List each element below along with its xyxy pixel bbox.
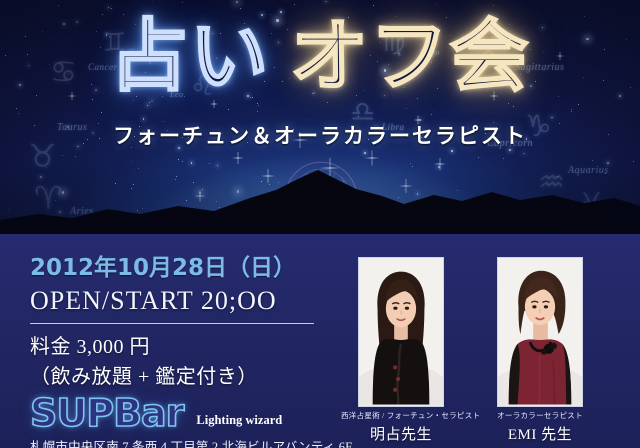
star xyxy=(149,102,150,103)
star xyxy=(503,158,504,159)
star xyxy=(325,1,327,3)
star xyxy=(513,106,514,107)
star xyxy=(578,104,579,105)
star xyxy=(558,96,559,97)
star xyxy=(431,114,432,115)
star xyxy=(258,105,259,106)
star xyxy=(102,14,103,15)
star xyxy=(240,8,241,9)
presenter-portrait-image-1 xyxy=(359,258,443,405)
star xyxy=(62,155,63,156)
presenter-portrait-image-2 xyxy=(498,258,582,405)
venue-address: 札幌市中央区南 7 条西 4 丁目第 2 北海ビルアバンティ 6F xyxy=(30,436,340,448)
star xyxy=(108,7,110,9)
venue-logo-row: SUPBar Lighting wizard xyxy=(30,394,340,432)
star xyxy=(111,8,112,9)
event-price: 料金 3,000 円 xyxy=(30,330,340,359)
star xyxy=(571,111,572,112)
star xyxy=(592,160,593,161)
title-part-offkai: オフ会 xyxy=(290,18,530,96)
star xyxy=(101,112,102,113)
title-part-uranai: 占い xyxy=(110,18,270,96)
star xyxy=(280,11,282,13)
presenter-caption-1: 西洋占星術 / フォーチュン・セラピスト 明占先生 xyxy=(341,410,461,444)
star xyxy=(406,108,407,109)
star xyxy=(294,4,295,5)
poster-subtitle: フォーチュン＆オーラカラーセラピスト xyxy=(0,120,640,150)
star xyxy=(508,103,509,104)
presenter-role-1: 西洋占星術 / フォーチュン・セラピスト xyxy=(341,410,461,421)
star xyxy=(18,113,19,114)
star xyxy=(75,156,76,157)
presenter-name-2: EMI 先生 xyxy=(480,423,600,444)
star xyxy=(257,103,258,104)
event-price-note: （飲み放題 + 鑑定付き） xyxy=(30,360,340,389)
star xyxy=(16,108,17,109)
mountain-silhouette xyxy=(0,162,640,236)
event-open-start: OPEN/START 20;OO xyxy=(30,286,340,316)
event-date: 2012年10月28日（日） xyxy=(30,248,340,282)
star xyxy=(182,2,183,3)
presenter-photo-2 xyxy=(497,257,583,407)
star xyxy=(584,16,585,17)
divider-rule xyxy=(30,323,314,324)
star xyxy=(147,105,149,107)
star xyxy=(58,5,59,6)
presenter-photo-1 xyxy=(358,257,444,407)
star xyxy=(92,99,93,100)
star xyxy=(523,153,525,155)
event-details: 2012年10月28日（日） OPEN/START 20;OO 料金 3,000… xyxy=(30,248,340,448)
presenter-caption-2: オーラカラーセラピスト EMI 先生 xyxy=(480,410,600,444)
presenter-role-2: オーラカラーセラピスト xyxy=(480,410,600,421)
supbar-logo: SUPBar xyxy=(30,394,183,432)
star xyxy=(571,109,572,110)
venue-tagline: Lighting wizard xyxy=(196,413,282,432)
star xyxy=(152,1,153,2)
star xyxy=(478,157,479,158)
presenter-name-1: 明占先生 xyxy=(341,423,461,444)
star xyxy=(178,159,179,160)
star xyxy=(257,111,258,112)
star xyxy=(451,150,453,152)
poster-title: 占い オフ会 xyxy=(0,18,640,96)
star xyxy=(493,5,494,6)
star xyxy=(436,4,437,5)
star xyxy=(373,5,374,6)
star xyxy=(236,1,239,4)
poster-root: ♋♊♌♉♈♎♍♐♑♒♓ CancerGeminiLeoTaurusAriesLi… xyxy=(0,0,640,448)
star xyxy=(228,109,229,110)
